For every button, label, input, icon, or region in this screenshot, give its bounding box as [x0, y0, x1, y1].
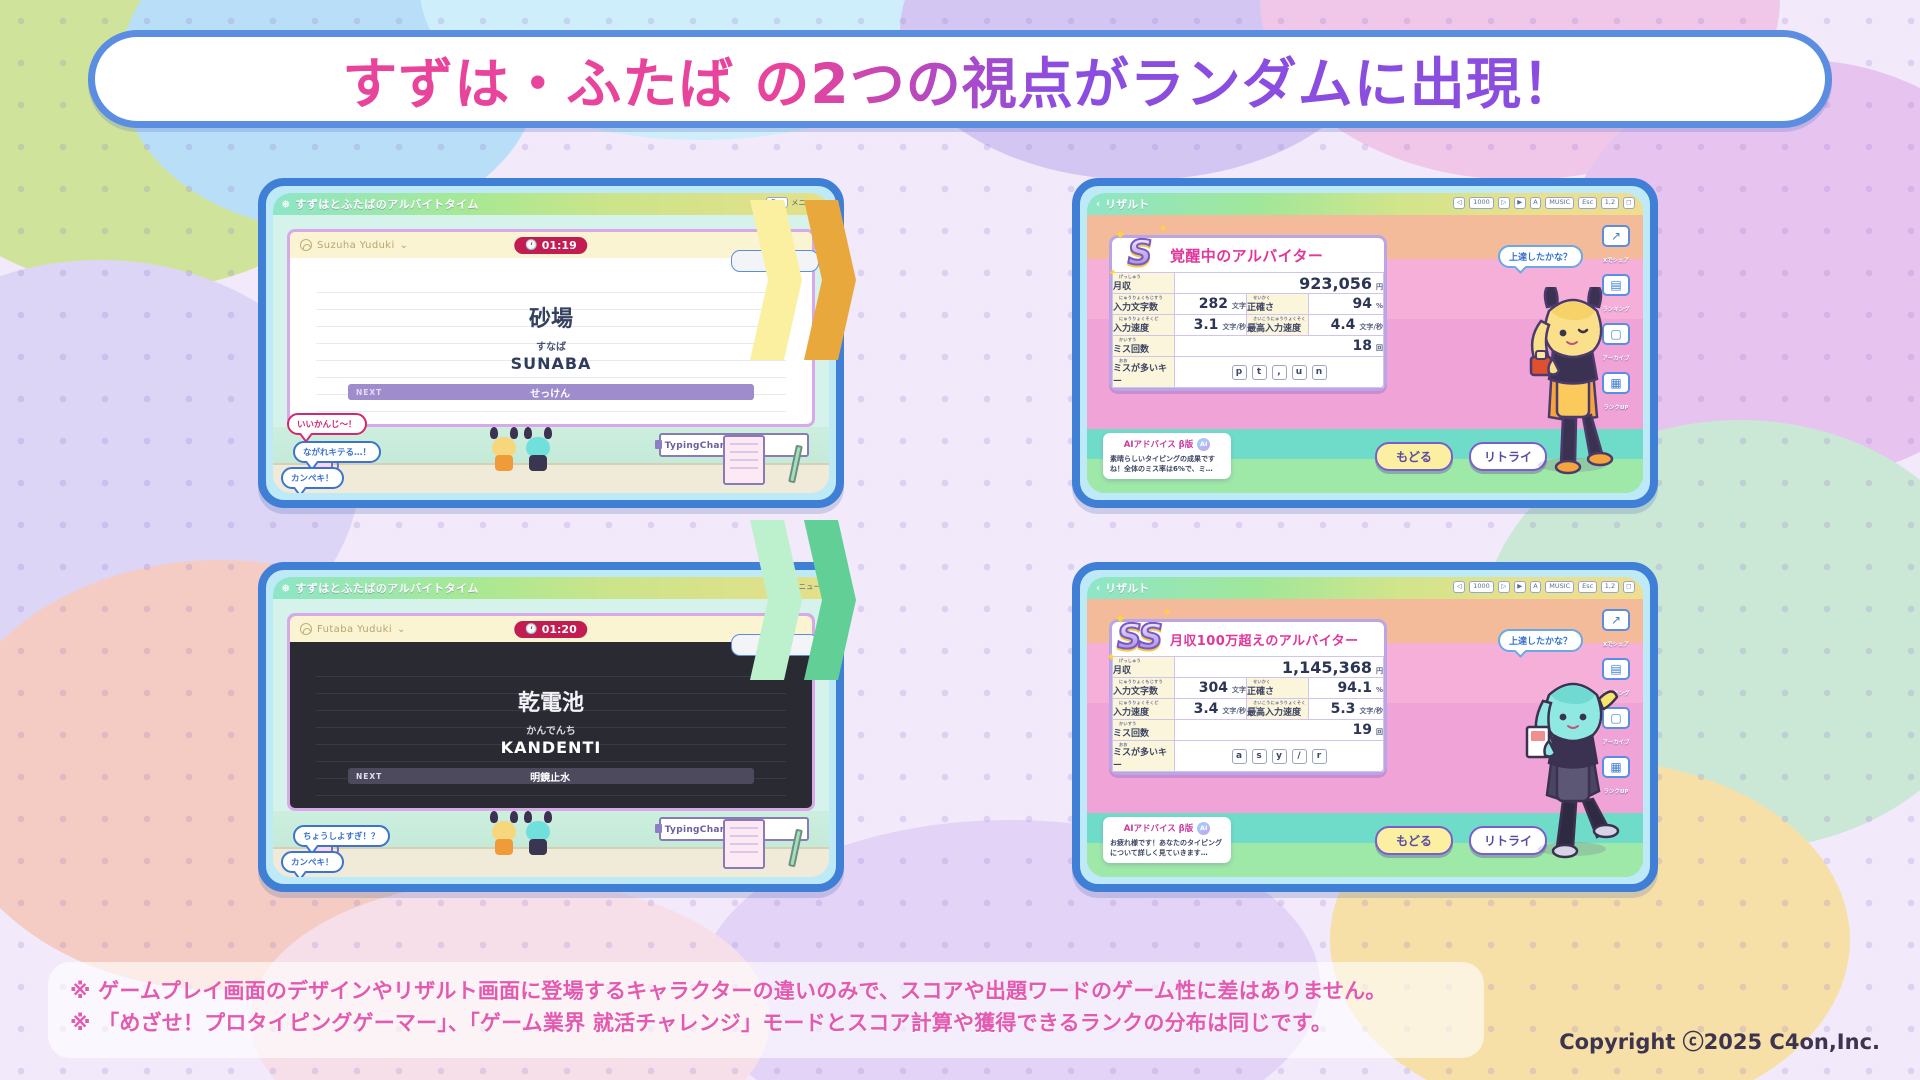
notepad-prop [723, 435, 765, 485]
ear-right [544, 427, 552, 439]
toolbar-key[interactable]: 1000 [1469, 197, 1494, 209]
current-word-romaji: KANDENTI [316, 738, 786, 757]
clock-icon: 🕐 [525, 624, 537, 635]
current-word-romaji: SUNABA [316, 354, 786, 373]
timer-badge: 🕐 01:20 [514, 621, 587, 638]
share-icon: ↗ [1602, 609, 1630, 631]
table-row: げっしゅう 月収 923,056円 [1113, 273, 1384, 294]
user-selector[interactable]: Suzuha Yuduki ⌄ [300, 239, 408, 251]
result-window-title: リザルト [1105, 580, 1149, 596]
result-toolbar[interactable]: ◁ 1000 ▷ ▶ A MUSIC Esc 1,2 ◻ [1453, 581, 1635, 593]
chevron-down-icon: ⌄ [397, 624, 406, 635]
toolbar-key[interactable]: ▶ [1514, 197, 1526, 209]
current-word-kana: すなば [316, 338, 786, 353]
row-value: 1,145,368円 [1175, 657, 1384, 678]
encourage-bubble: 上達したかな？ [1498, 245, 1583, 268]
table-row: おお ミスが多いキー p t , u n [1113, 357, 1384, 388]
keycap: s [1252, 749, 1267, 764]
result-window-title: リザルト [1105, 196, 1149, 212]
keycap: u [1292, 365, 1307, 380]
result-titlebar: ‹ リザルト ◁ 1000 ▷ ▶ A MUSIC Esc 1,2 ◻ [1087, 193, 1643, 215]
user-name: Suzuha Yuduki [317, 240, 395, 251]
chibi-suzuha [489, 815, 519, 855]
avatar-icon [300, 239, 312, 251]
book-icon [655, 440, 662, 449]
game-body: TypingChannel [273, 215, 829, 493]
back-button[interactable]: もどる [1375, 826, 1453, 855]
footer-note-2: ※ 「めざせ！プロタイピングゲーマー」、「ゲーム業界 就活チャレンジ」モードとス… [70, 1008, 1462, 1040]
next-word: せっけん [382, 385, 718, 400]
ear-right [544, 811, 552, 823]
chevron-icon [750, 200, 802, 360]
game-panel-inner: ❅ すずはとふたばのアルバイトタイム Esc メニュー TypingChanne… [273, 193, 829, 493]
result-rank-card: ✦ ✦ ✦ S 覚醒中のアルバイター げっしゅう 月収 923,0 [1109, 235, 1387, 391]
flow-arrow-bottom [750, 520, 856, 680]
toolbar-key[interactable]: MUSIC [1545, 197, 1574, 209]
book-icon [655, 824, 662, 833]
keycap: p [1232, 365, 1247, 380]
speech-bubble: カンペキ！ [281, 851, 344, 873]
chibi-suzuha [489, 431, 519, 471]
footer-note-1: ※ ゲームプレイ画面のデザインやリザルト画面に登場するキャラクターの違いのみで、… [70, 976, 1462, 1008]
row-label-2: さいこうにゅうりょくそくど 最高入力速度 [1247, 315, 1309, 336]
speech-bubble: ながれキテる…！ [293, 441, 381, 463]
row-label: にゅうりょくもじすう 入力文字数 [1113, 294, 1175, 315]
ear-left [490, 811, 498, 823]
ear-left [524, 811, 532, 823]
row-value-2: 5.3文字/秒 [1309, 699, 1384, 720]
ai-advice-text: 素晴らしいタイピングの成果ですね！全体のミス率は6%で、ミ… [1110, 454, 1224, 474]
rail-item-share[interactable]: ↗ Xでシェア [1598, 609, 1634, 650]
row-value-2: 94% [1309, 294, 1384, 315]
result-panel-inner: ‹ リザルト ◁ 1000 ▷ ▶ A MUSIC Esc 1,2 ◻ [1087, 577, 1643, 877]
row-value: 282文字 [1175, 294, 1247, 315]
result-body: ✦ ✦ ✦ S 覚醒中のアルバイター げっしゅう 月収 923,0 [1087, 215, 1643, 493]
flow-arrow-top [750, 200, 856, 360]
typing-area: 乾電池 かんでんち KANDENTI NEXT 明鏡止水 [316, 660, 786, 800]
timer-value: 01:19 [542, 239, 577, 252]
rank-title: 覚醒中のアルバイター [1170, 245, 1323, 266]
rank-badge: ✦ ✦ ✦ SS [1108, 612, 1170, 662]
game-body: TypingChannel [273, 599, 829, 877]
result-stats-table: げっしゅう 月収 923,056円 にゅうりょくもじすう 入力文字数 [1112, 272, 1384, 388]
background [0, 0, 1920, 1080]
rank-header: ✦ ✦ ✦ S 覚醒中のアルバイター [1112, 238, 1384, 272]
result-titlebar: ‹ リザルト ◁ 1000 ▷ ▶ A MUSIC Esc 1,2 ◻ [1087, 577, 1643, 599]
head [526, 821, 550, 841]
ai-badge-icon: AI [1197, 822, 1210, 835]
footer-notes: ※ ゲームプレイ画面のデザインやリザルト画面に登場するキャラクターの違いのみで、… [48, 962, 1484, 1058]
current-word-kana: かんでんち [316, 722, 786, 737]
result-panel-s: ‹ リザルト ◁ 1000 ▷ ▶ A MUSIC Esc 1,2 ◻ [1072, 178, 1658, 508]
toolbar-key[interactable]: 1,2 [1601, 197, 1618, 209]
row-value-2: 4.4文字/秒 [1309, 315, 1384, 336]
keycap: n [1312, 365, 1327, 380]
character-suzuha [1513, 287, 1631, 477]
toolbar-key[interactable]: ▷ [1498, 581, 1510, 593]
next-word-bar: NEXT 明鏡止水 [348, 768, 754, 784]
speech-bubble: カンペキ！ [281, 467, 344, 489]
head [526, 437, 550, 457]
keycap: r [1312, 749, 1327, 764]
head [492, 437, 516, 457]
encourage-bubble: 上達したかな？ [1498, 629, 1583, 652]
game-window-title: すずはとふたばのアルバイトタイム [295, 196, 479, 212]
rank-letter: S [1128, 233, 1151, 273]
star-icon: ✦ [1159, 222, 1168, 235]
toolbar-key[interactable]: ◻ [1623, 197, 1635, 209]
next-word: 明鏡止水 [382, 769, 718, 784]
timer-value: 01:20 [542, 623, 577, 636]
title-banner: すずは・ふたば の2つの視点がランダムに出現！ [88, 30, 1832, 128]
character-futaba [1513, 671, 1631, 861]
keycap: y [1272, 749, 1287, 764]
row-label: にゅうりょくそくど 入力速度 [1113, 699, 1175, 720]
row-value: 3.4文字/秒 [1175, 699, 1247, 720]
chibi-futaba [523, 431, 553, 471]
speech-bubble: ちょうしよすぎ！？ [293, 825, 390, 847]
table-row: にゅうりょくそくど 入力速度 3.1文字/秒 さいこうにゅうりょくそくど 最高入… [1113, 315, 1384, 336]
row-label: おお ミスが多いキー [1113, 357, 1175, 388]
table-row: おお ミスが多いキー a s y / r [1113, 741, 1384, 772]
rank-badge: ✦ ✦ ✦ S [1108, 228, 1170, 278]
miss-keys-cell: p t , u n [1175, 357, 1384, 388]
row-value-2: 94.1% [1309, 678, 1384, 699]
chibi-futaba [523, 815, 553, 855]
table-row: にゅうりょくもじすう 入力文字数 282文字 せいかく 正確さ 94% [1113, 294, 1384, 315]
body [529, 839, 547, 855]
game-panel-inner: ❅ すずはとふたばのアルバイトタイム Esc メニュー TypingChanne… [273, 577, 829, 877]
snowflake-icon: ❅ [281, 582, 290, 595]
toolbar-key[interactable]: ◁ [1453, 581, 1465, 593]
ai-advice-header: AIアドバイス β版 AI [1110, 822, 1224, 835]
toolbar-key[interactable]: Esc [1578, 197, 1597, 209]
chevron-down-icon: ⌄ [400, 240, 409, 251]
body [529, 455, 547, 471]
rank-letter: SS [1117, 617, 1161, 657]
page-title: すずは・ふたば の2つの視点がランダムに出現！ [342, 39, 1577, 119]
row-value: 923,056円 [1175, 273, 1384, 294]
row-label: にゅうりょくもじすう 入力文字数 [1113, 678, 1175, 699]
ai-advice-text: お疲れ様です！あなたのタイピングについて詳しく見ていきます… [1110, 838, 1224, 858]
toolbar-key[interactable]: 1000 [1469, 581, 1494, 593]
toolbar-key[interactable]: 1,2 [1601, 581, 1618, 593]
keycap: a [1232, 749, 1247, 764]
result-body: ✦ ✦ ✦ SS 月収100万超えのアルバイター げっしゅう 月収 [1087, 599, 1643, 877]
miss-keys-cell: a s y / r [1175, 741, 1384, 772]
ai-advice-title: AIアドバイス β版 [1124, 438, 1194, 450]
back-button[interactable]: もどる [1375, 442, 1453, 471]
row-label-2: さいこうにゅうりょくそくど 最高入力速度 [1247, 699, 1309, 720]
ai-badge-icon: AI [1197, 438, 1210, 451]
keycap: , [1272, 365, 1287, 380]
result-panel-inner: ‹ リザルト ◁ 1000 ▷ ▶ A MUSIC Esc 1,2 ◻ [1087, 193, 1643, 493]
miss-keycaps: a s y / r [1175, 749, 1383, 764]
ai-advice-box[interactable]: AIアドバイス β版 AI 素晴らしいタイピングの成果ですね！全体のミス率は6%… [1103, 433, 1231, 479]
toolbar-key[interactable]: A [1530, 581, 1541, 593]
result-panel-ss: ‹ リザルト ◁ 1000 ▷ ▶ A MUSIC Esc 1,2 ◻ [1072, 562, 1658, 892]
user-name: Futaba Yuduki [317, 624, 392, 635]
next-tag: NEXT [356, 772, 382, 781]
toolbar-key[interactable]: A [1530, 197, 1541, 209]
typing-area: 砂場 すなば SUNABA NEXT せっけん [316, 276, 786, 416]
ai-advice-header: AIアドバイス β版 AI [1110, 438, 1224, 451]
toolbar-key[interactable]: ▶ [1514, 581, 1526, 593]
ear-left [490, 427, 498, 439]
notepad-prop [723, 819, 765, 869]
back-chevron-icon[interactable]: ‹ [1096, 199, 1100, 210]
toolbar-key[interactable]: ◻ [1623, 581, 1635, 593]
keycap: t [1252, 365, 1267, 380]
snowflake-icon: ❅ [281, 198, 290, 211]
body [495, 839, 513, 855]
table-row: かいすう ミス回数 19回 [1113, 720, 1384, 741]
rank-header: ✦ ✦ ✦ SS 月収100万超えのアルバイター [1112, 622, 1384, 656]
miss-keycaps: p t , u n [1175, 365, 1383, 380]
avatar-icon [300, 623, 312, 635]
next-word-bar: NEXT せっけん [348, 384, 754, 400]
chevron-icon [804, 520, 856, 680]
rank-title: 月収100万超えのアルバイター [1170, 630, 1359, 649]
result-rank-card: ✦ ✦ ✦ SS 月収100万超えのアルバイター げっしゅう 月収 [1109, 619, 1387, 775]
chevron-icon [804, 200, 856, 360]
toolbar-key[interactable]: Esc [1578, 581, 1597, 593]
row-label: にゅうりょくそくど 入力速度 [1113, 315, 1175, 336]
current-word-kanji: 乾電池 [316, 685, 786, 717]
ear-right [510, 811, 518, 823]
result-stats-table: げっしゅう 月収 1,145,368円 にゅうりょくもじすう 入力文字数 [1112, 656, 1384, 772]
ear-right [510, 427, 518, 439]
row-label: かいすう ミス回数 [1113, 720, 1175, 741]
share-icon: ↗ [1602, 225, 1630, 247]
timer-badge: 🕐 01:19 [514, 237, 587, 254]
toolbar-key[interactable]: ◁ [1453, 197, 1465, 209]
row-value: 19回 [1175, 720, 1384, 741]
row-label: げっしゅう 月収 [1113, 657, 1175, 678]
ear-left [524, 427, 532, 439]
ai-advice-box[interactable]: AIアドバイス β版 AI お疲れ様です！あなたのタイピングについて詳しく見てい… [1103, 817, 1231, 863]
table-row: げっしゅう 月収 1,145,368円 [1113, 657, 1384, 678]
toolbar-key[interactable]: ▷ [1498, 197, 1510, 209]
current-word-kanji: 砂場 [316, 301, 786, 333]
star-icon: ✦ [1114, 226, 1127, 244]
bg-dot-pattern [0, 0, 1920, 1080]
head [492, 821, 516, 841]
row-label: かいすう ミス回数 [1113, 336, 1175, 357]
row-value: 3.1文字/秒 [1175, 315, 1247, 336]
toolbar-key[interactable]: MUSIC [1545, 581, 1574, 593]
back-chevron-icon[interactable]: ‹ [1096, 583, 1100, 594]
speech-bubble: いいかんじ～！ [287, 413, 367, 435]
clock-icon: 🕐 [525, 240, 537, 251]
result-toolbar[interactable]: ◁ 1000 ▷ ▶ A MUSIC Esc 1,2 ◻ [1453, 197, 1635, 209]
star-icon: ✦ [1163, 606, 1172, 619]
rail-item-share[interactable]: ↗ Xでシェア [1598, 225, 1634, 266]
row-label: げっしゅう 月収 [1113, 273, 1175, 294]
next-tag: NEXT [356, 388, 382, 397]
game-titlebar: ❅ すずはとふたばのアルバイトタイム Esc メニュー [273, 193, 829, 215]
keycap: / [1292, 749, 1307, 764]
row-value: 304文字 [1175, 678, 1247, 699]
ai-advice-title: AIアドバイス β版 [1124, 822, 1194, 834]
game-window-title: すずはとふたばのアルバイトタイム [295, 580, 479, 596]
row-label-2: せいかく 正確さ [1247, 678, 1309, 699]
chevron-icon [750, 520, 802, 680]
row-label: おお ミスが多いキー [1113, 741, 1175, 772]
game-titlebar: ❅ すずはとふたばのアルバイトタイム Esc メニュー [273, 577, 829, 599]
copyright-text: Copyright ⓒ2025 C4on,Inc. [1559, 1026, 1880, 1056]
row-value: 18回 [1175, 336, 1384, 357]
user-selector[interactable]: Futaba Yuduki ⌄ [300, 623, 406, 635]
row-label-2: せいかく 正確さ [1247, 294, 1309, 315]
table-row: かいすう ミス回数 18回 [1113, 336, 1384, 357]
table-row: にゅうりょくもじすう 入力文字数 304文字 せいかく 正確さ 94.1% [1113, 678, 1384, 699]
body [495, 455, 513, 471]
table-row: にゅうりょくそくど 入力速度 3.4文字/秒 さいこうにゅうりょくそくど 最高入… [1113, 699, 1384, 720]
